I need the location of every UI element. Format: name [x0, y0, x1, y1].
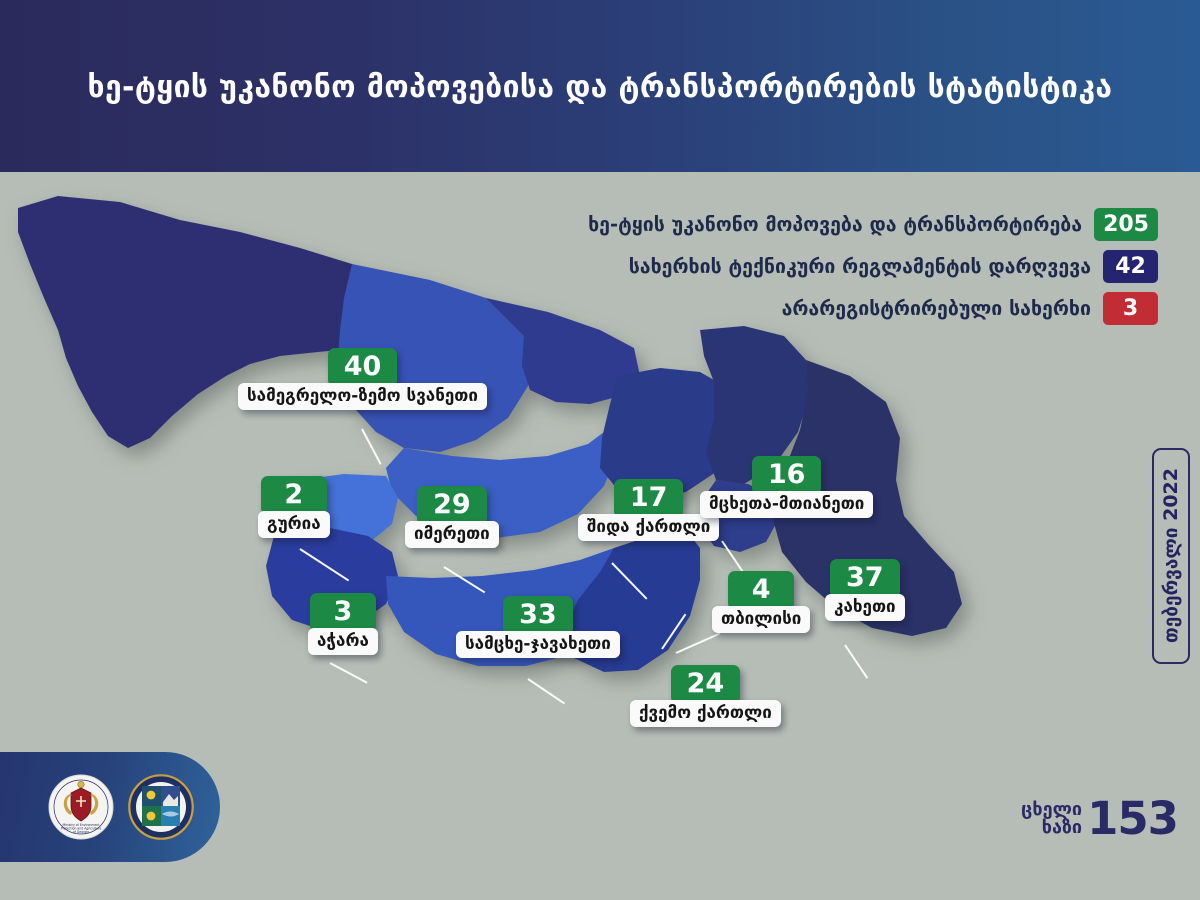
- callout-samtskhe[interactable]: 33 სამცხე-ჯავახეთი: [456, 596, 620, 658]
- hotline-line1: ცხელი: [1021, 801, 1082, 819]
- region-value: 33: [503, 596, 573, 635]
- period-tab: თებერვალი 2022: [1152, 448, 1190, 664]
- status-badge: 3: [1103, 292, 1158, 325]
- callout-samegrelo[interactable]: 40 სამეგრელო-ზემო სვანეთი: [238, 348, 487, 410]
- region-label: სამცხე-ჯავახეთი: [456, 631, 620, 658]
- region-value: 37: [830, 559, 900, 598]
- region-label: გურია: [258, 511, 330, 538]
- supervision-department-emblem-icon: [128, 774, 194, 840]
- region-label: სამეგრელო-ზემო სვანეთი: [238, 383, 487, 410]
- region-value: 2: [261, 476, 327, 515]
- region-label: მცხეთა-მთიანეთი: [700, 491, 873, 518]
- georgia-map: [0, 180, 1060, 780]
- hotline-line2: ხაზი: [1021, 819, 1082, 837]
- page-title: ხე-ტყის უკანონო მოპოვებისა და ტრანსპორტი…: [0, 70, 1200, 105]
- region-label: აჭარა: [308, 628, 378, 655]
- page-header: ხე-ტყის უკანონო მოპოვებისა და ტრანსპორტი…: [0, 0, 1200, 172]
- region-value: 4: [728, 571, 794, 610]
- callout-shida-kartli[interactable]: 17 შიდა ქართლი: [578, 479, 719, 541]
- region-value: 16: [752, 456, 822, 495]
- region-label: თბილისი: [712, 606, 810, 633]
- hotline: ცხელი ხაზი 153: [1021, 792, 1178, 845]
- callout-imereti[interactable]: 29 იმერეთი: [405, 486, 499, 548]
- status-badge: 205: [1094, 208, 1158, 241]
- callout-kakheti[interactable]: 37 კახეთი: [825, 559, 905, 621]
- ministry-emblem-icon: Ministry of Environment Protection and A…: [48, 774, 114, 840]
- callout-tbilisi[interactable]: 4 თბილისი: [712, 571, 810, 633]
- region-value: 3: [310, 593, 376, 632]
- region-label: იმერეთი: [405, 521, 499, 548]
- callout-adjara[interactable]: 3 აჭარა: [308, 593, 378, 655]
- callout-mtskheta[interactable]: 16 მცხეთა-მთიანეთი: [700, 456, 873, 518]
- region-value: 17: [614, 479, 684, 518]
- logo-panel: Ministry of Environment Protection and A…: [0, 752, 220, 862]
- region-value: 24: [671, 665, 741, 704]
- period-label: თებერვალი 2022: [1160, 468, 1182, 643]
- status-badge: 42: [1103, 250, 1158, 283]
- region-label: შიდა ქართლი: [578, 514, 719, 541]
- hotline-words: ცხელი ხაზი: [1021, 801, 1082, 837]
- callout-kvemo-kartli[interactable]: 24 ქვემო ქართლი: [630, 665, 781, 727]
- region-value: 29: [417, 486, 487, 525]
- region-label: ქვემო ქართლი: [630, 700, 781, 727]
- svg-text:of Georgia: of Georgia: [73, 830, 89, 834]
- callout-guria[interactable]: 2 გურია: [258, 476, 330, 538]
- hotline-number: 153: [1087, 792, 1178, 845]
- region-value: 40: [328, 348, 398, 387]
- region-label: კახეთი: [825, 594, 905, 621]
